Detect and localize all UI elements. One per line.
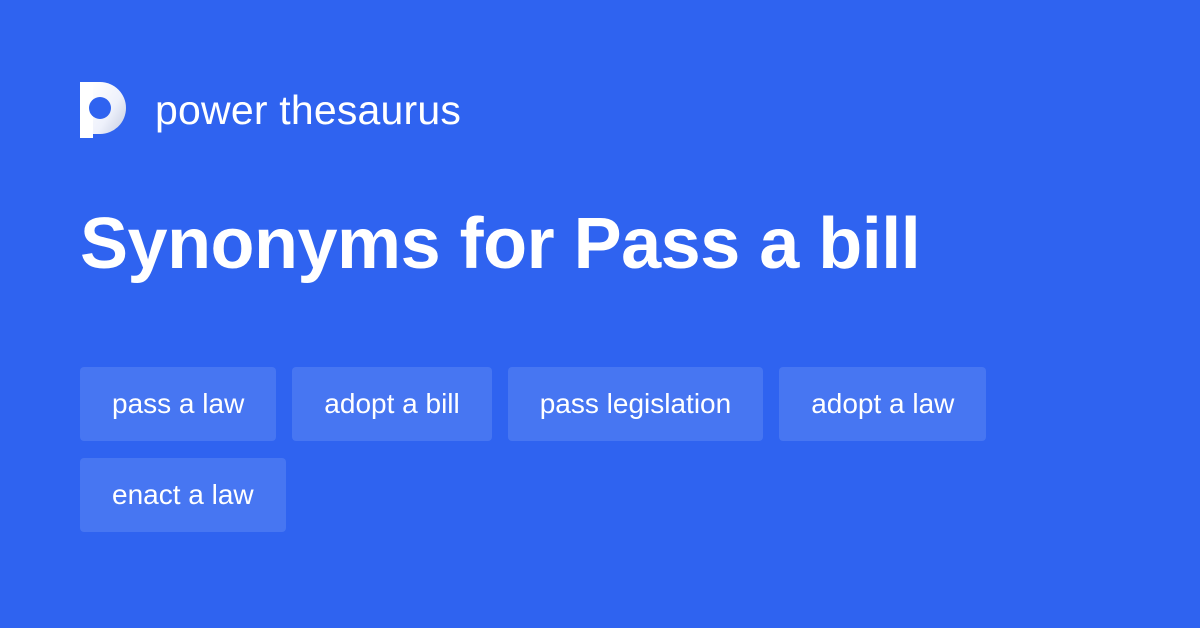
synonym-chip[interactable]: adopt a law bbox=[779, 367, 986, 441]
synonym-chip[interactable]: pass legislation bbox=[508, 367, 763, 441]
synonym-chip[interactable]: enact a law bbox=[80, 458, 286, 532]
brand-header: power thesaurus bbox=[80, 82, 461, 138]
synonym-chip[interactable]: pass a law bbox=[80, 367, 276, 441]
power-thesaurus-logo-icon bbox=[80, 82, 126, 138]
brand-name: power thesaurus bbox=[155, 82, 461, 138]
synonym-chip-list: pass a law adopt a bill pass legislation… bbox=[80, 367, 1140, 532]
synonym-chip[interactable]: adopt a bill bbox=[292, 367, 491, 441]
page-title: Synonyms for Pass a bill bbox=[80, 196, 920, 292]
share-card: power thesaurus Synonyms for Pass a bill… bbox=[0, 0, 1200, 628]
